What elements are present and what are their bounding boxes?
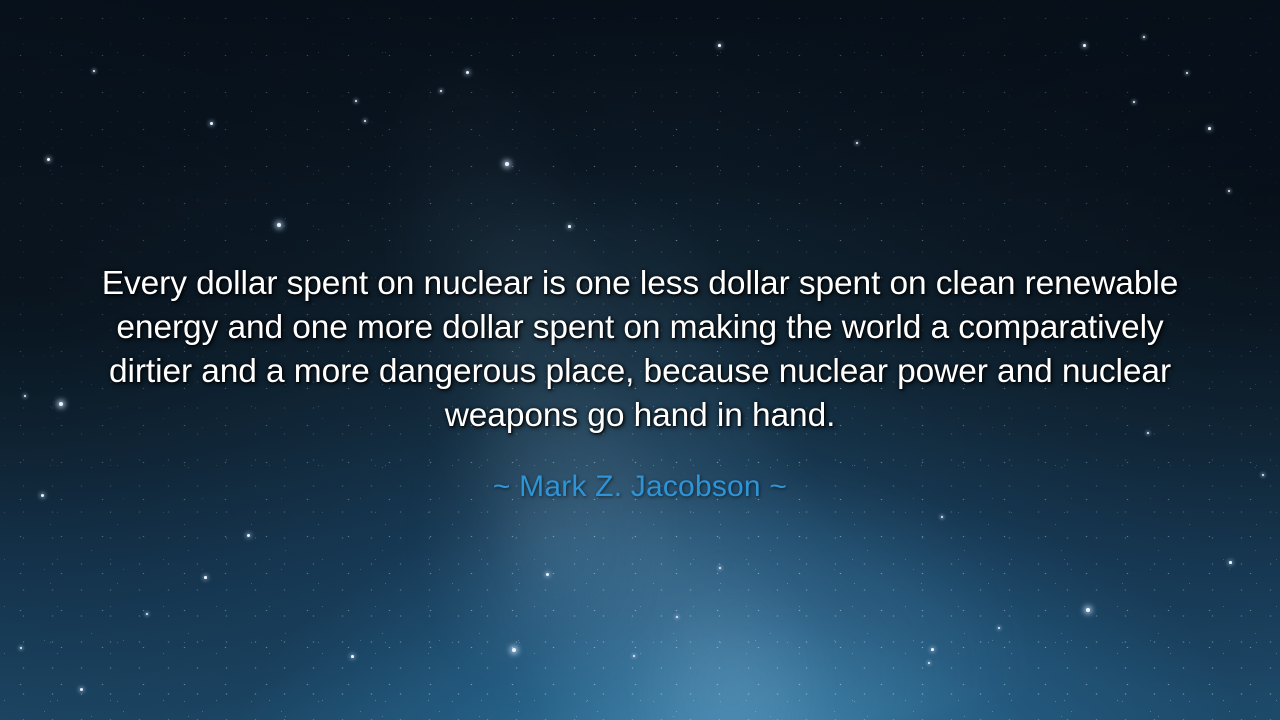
quote-attribution: ~ Mark Z. Jacobson ~ <box>0 468 1280 506</box>
quote-slide: Every dollar spent on nuclear is one les… <box>0 0 1280 720</box>
quote-block: Every dollar spent on nuclear is one les… <box>0 262 1280 438</box>
quote-text: Every dollar spent on nuclear is one les… <box>75 262 1205 438</box>
